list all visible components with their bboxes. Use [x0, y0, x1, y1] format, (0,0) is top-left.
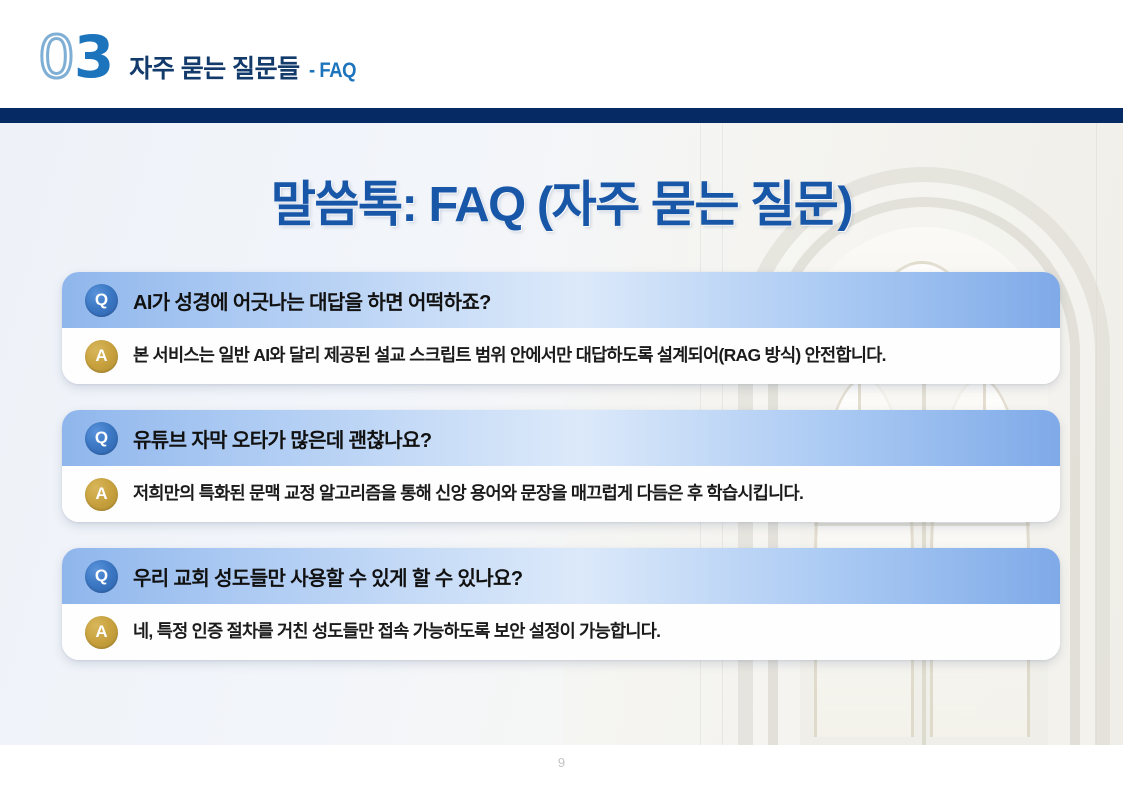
question-badge: Q — [85, 422, 118, 455]
faq-card[interactable]: Q 유튜브 자막 오타가 많은데 괜찮나요? A 저희만의 특화된 문맥 교정 … — [62, 410, 1060, 522]
slide-footer: 9 — [0, 745, 1123, 794]
header-title: 자주 묻는 질문들 — [129, 49, 299, 85]
page-title: 말씀톡: FAQ (자주 묻는 질문) — [0, 165, 1123, 236]
faq-card[interactable]: Q AI가 성경에 어긋나는 대답을 하면 어떡하죠? A 본 서비스는 일반 … — [62, 272, 1060, 384]
faq-question-text: 유튜브 자막 오타가 많은데 괜찮나요? — [133, 424, 431, 453]
answer-badge: A — [85, 478, 118, 511]
header-inner: 0 3 자주 묻는 질문들 - FAQ — [38, 28, 362, 86]
faq-answer-text: 네, 특정 인증 절차를 거친 성도들만 접속 가능하도록 보안 설정이 가능합… — [133, 620, 660, 644]
faq-answer-text: 저희만의 특화된 문맥 교정 알고리즘을 통해 신앙 용어와 문장을 매끄럽게 … — [133, 482, 803, 506]
question-badge: Q — [85, 560, 118, 593]
navy-divider-bar — [0, 108, 1123, 123]
answer-badge: A — [85, 340, 118, 373]
page-number: 9 — [0, 755, 1123, 770]
faq-card[interactable]: Q 우리 교회 성도들만 사용할 수 있게 할 수 있나요? A 네, 특정 인… — [62, 548, 1060, 660]
header-faq-label: - FAQ — [309, 59, 356, 83]
section-number-zero: 0 — [38, 28, 73, 86]
faq-question-row[interactable]: Q 유튜브 자막 오타가 많은데 괜찮나요? — [62, 410, 1060, 466]
section-number-three: 3 — [74, 28, 113, 86]
slide: 0 3 자주 묻는 질문들 - FAQ 말씀톡: FAQ (자주 묻는 질문) — [0, 0, 1123, 794]
faq-question-text: 우리 교회 성도들만 사용할 수 있게 할 수 있나요? — [133, 562, 522, 591]
faq-question-row[interactable]: Q AI가 성경에 어긋나는 대답을 하면 어떡하죠? — [62, 272, 1060, 328]
faq-answer-text: 본 서비스는 일반 AI와 달리 제공된 설교 스크립트 범위 안에서만 대답하… — [133, 344, 886, 368]
slide-canvas: 말씀톡: FAQ (자주 묻는 질문) Q AI가 성경에 어긋나는 대답을 하… — [0, 123, 1123, 745]
answer-badge: A — [85, 616, 118, 649]
slide-header: 0 3 자주 묻는 질문들 - FAQ — [0, 0, 1123, 108]
faq-answer-row: A 본 서비스는 일반 AI와 달리 제공된 설교 스크립트 범위 안에서만 대… — [62, 328, 1060, 384]
faq-answer-row: A 네, 특정 인증 절차를 거친 성도들만 접속 가능하도록 보안 설정이 가… — [62, 604, 1060, 660]
faq-list: Q AI가 성경에 어긋나는 대답을 하면 어떡하죠? A 본 서비스는 일반 … — [62, 272, 1060, 686]
faq-answer-row: A 저희만의 특화된 문맥 교정 알고리즘을 통해 신앙 용어와 문장을 매끄럽… — [62, 466, 1060, 522]
question-badge: Q — [85, 284, 118, 317]
faq-question-text: AI가 성경에 어긋나는 대답을 하면 어떡하죠? — [133, 286, 491, 315]
faq-question-row[interactable]: Q 우리 교회 성도들만 사용할 수 있게 할 수 있나요? — [62, 548, 1060, 604]
